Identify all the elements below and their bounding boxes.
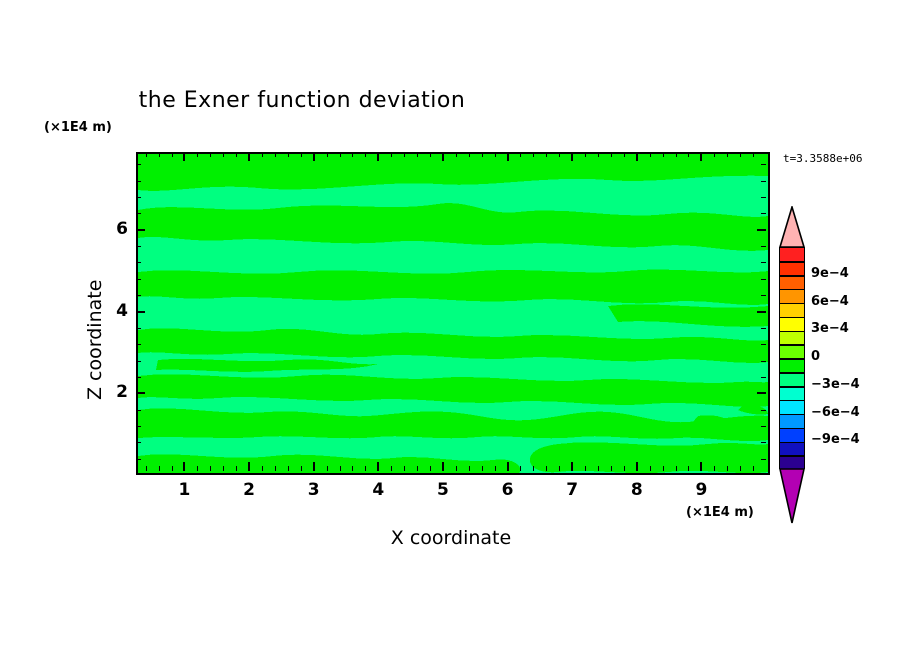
x-tick-minor (663, 466, 664, 471)
colorbar-over-arrow (779, 206, 805, 248)
x-tick-minor-top (753, 152, 754, 157)
x-tick-label: 2 (229, 480, 269, 500)
x-tick-major (507, 462, 509, 471)
x-tick-minor (288, 466, 289, 471)
contour-region (138, 203, 768, 251)
x-axis-unit-label: (×1E4 m) (686, 505, 754, 520)
x-tick-minor (585, 466, 586, 471)
x-tick-label: 4 (358, 480, 398, 500)
x-tick-minor-top (352, 152, 353, 157)
contour-region (138, 154, 768, 191)
x-tick-major-top (183, 152, 185, 161)
x-tick-minor (727, 466, 728, 471)
x-tick-minor-top (391, 152, 392, 157)
contour-region (138, 454, 520, 473)
colorbar-band-divider (780, 400, 804, 402)
x-tick-minor (352, 466, 353, 471)
x-tick-minor (236, 466, 237, 471)
x-tick-minor-top (482, 152, 483, 157)
x-tick-minor-top (288, 152, 289, 157)
x-tick-minor (327, 466, 328, 471)
x-tick-minor (159, 466, 160, 471)
x-tick-minor-top (210, 152, 211, 157)
y-tick-major (136, 392, 145, 394)
y-tick-minor-right (761, 442, 766, 443)
x-tick-minor (559, 466, 560, 471)
y-tick-minor-right (761, 181, 766, 182)
x-tick-minor (546, 466, 547, 471)
x-tick-major (636, 462, 638, 471)
x-tick-minor (262, 466, 263, 471)
y-tick-minor-right (761, 426, 766, 427)
colorbar-band-divider (780, 317, 804, 319)
contour-region (608, 304, 768, 327)
time-annotation: t=3.3588e+06 (783, 152, 862, 165)
y-tick-minor (136, 197, 141, 198)
x-tick-minor-top (559, 152, 560, 157)
x-tick-major-top (248, 152, 250, 161)
contour-region (138, 374, 768, 407)
x-tick-minor-top (404, 152, 405, 157)
x-tick-minor-top (520, 152, 521, 157)
colorbar-bands (779, 247, 805, 469)
x-tick-minor (172, 466, 173, 471)
x-tick-minor-top (676, 152, 677, 157)
contour-field (138, 154, 768, 473)
x-tick-minor-top (430, 152, 431, 157)
y-tick-minor (136, 410, 141, 411)
colorbar[interactable]: 9e−46e−43e−40−3e−4−6e−4−9e−4 (779, 206, 805, 470)
x-tick-minor-top (159, 152, 160, 157)
y-tick-minor-right (761, 410, 766, 411)
colorbar-tick-label: 0 (811, 349, 820, 364)
x-tick-minor (688, 466, 689, 471)
colorbar-under-arrow (779, 468, 805, 524)
colorbar-band-divider (780, 442, 804, 444)
x-tick-minor-top (236, 152, 237, 157)
colorbar-band-divider (780, 261, 804, 263)
x-tick-minor-top (172, 152, 173, 157)
x-tick-minor (340, 466, 341, 471)
y-tick-major (136, 311, 145, 313)
y-tick-major-right (757, 392, 766, 394)
y-tick-minor (136, 361, 141, 362)
colorbar-band-divider (780, 275, 804, 277)
x-tick-major-top (636, 152, 638, 161)
colorbar-band-divider (780, 455, 804, 457)
x-tick-minor (456, 466, 457, 471)
x-tick-minor-top (495, 152, 496, 157)
x-tick-minor-top (727, 152, 728, 157)
x-tick-label: 9 (681, 480, 721, 500)
x-tick-major-top (700, 152, 702, 161)
x-tick-minor-top (197, 152, 198, 157)
colorbar-tick-label: 6e−4 (811, 294, 849, 309)
x-tick-minor-top (327, 152, 328, 157)
contour-region (138, 270, 768, 305)
y-tick-minor (136, 262, 141, 263)
x-tick-minor (740, 466, 741, 471)
y-tick-minor-right (761, 361, 766, 362)
colorbar-band-divider (780, 428, 804, 430)
x-tick-minor (624, 466, 625, 471)
x-tick-minor (714, 466, 715, 471)
x-tick-minor (482, 466, 483, 471)
y-axis-unit-label: (×1E4 m) (44, 120, 112, 135)
x-tick-major (313, 462, 315, 471)
x-tick-minor (676, 466, 677, 471)
x-tick-major-top (313, 152, 315, 161)
colorbar-band-divider (780, 386, 804, 388)
x-axis-title: X coordinate (136, 527, 766, 549)
x-tick-minor (533, 466, 534, 471)
x-tick-minor (598, 466, 599, 471)
x-tick-major-top (507, 152, 509, 161)
y-tick-minor-right (761, 344, 766, 345)
x-tick-minor (275, 466, 276, 471)
x-tick-minor (495, 466, 496, 471)
x-tick-minor (197, 466, 198, 471)
x-tick-label: 1 (164, 480, 204, 500)
colorbar-band-divider (780, 331, 804, 333)
colorbar-band-divider (780, 344, 804, 346)
x-tick-minor-top (417, 152, 418, 157)
y-tick-minor (136, 377, 141, 378)
x-tick-minor (417, 466, 418, 471)
x-tick-minor-top (146, 152, 147, 157)
colorbar-tick-label: 9e−4 (811, 266, 849, 281)
y-tick-label: 6 (88, 219, 128, 239)
x-tick-minor (301, 466, 302, 471)
x-tick-minor-top (340, 152, 341, 157)
x-tick-label: 6 (488, 480, 528, 500)
x-tick-minor (365, 466, 366, 471)
x-tick-minor (520, 466, 521, 471)
colorbar-band-divider (780, 303, 804, 305)
y-tick-minor (136, 426, 141, 427)
x-tick-minor (753, 466, 754, 471)
y-tick-minor (136, 442, 141, 443)
x-tick-major-top (571, 152, 573, 161)
x-tick-minor (210, 466, 211, 471)
y-tick-minor (136, 164, 141, 165)
y-tick-minor-right (761, 197, 766, 198)
x-tick-minor-top (598, 152, 599, 157)
x-tick-minor-top (663, 152, 664, 157)
y-tick-minor-right (761, 377, 766, 378)
x-tick-label: 5 (423, 480, 463, 500)
x-tick-minor-top (365, 152, 366, 157)
colorbar-tick-label: −6e−4 (811, 405, 860, 420)
x-tick-minor-top (650, 152, 651, 157)
x-tick-minor (611, 466, 612, 471)
x-tick-minor-top (275, 152, 276, 157)
x-tick-minor-top (456, 152, 457, 157)
x-tick-minor-top (740, 152, 741, 157)
x-tick-minor (650, 466, 651, 471)
contour-region (138, 408, 768, 441)
x-tick-minor-top (301, 152, 302, 157)
x-tick-minor (223, 466, 224, 471)
colorbar-band-divider (780, 358, 804, 360)
colorbar-tick-label: 3e−4 (811, 321, 849, 336)
x-tick-minor-top (688, 152, 689, 157)
x-tick-minor-top (611, 152, 612, 157)
x-tick-major (183, 462, 185, 471)
x-tick-label: 3 (294, 480, 334, 500)
x-tick-major-top (442, 152, 444, 161)
y-tick-minor (136, 279, 141, 280)
y-tick-major (136, 229, 145, 231)
x-tick-major (248, 462, 250, 471)
y-tick-major-right (757, 311, 766, 313)
y-tick-minor-right (761, 246, 766, 247)
y-tick-minor (136, 344, 141, 345)
contour-region (138, 328, 768, 363)
y-tick-minor (136, 246, 141, 247)
x-tick-minor (146, 466, 147, 471)
x-tick-major (700, 462, 702, 471)
y-tick-minor (136, 181, 141, 182)
x-tick-minor-top (624, 152, 625, 157)
x-tick-major (571, 462, 573, 471)
x-tick-major (377, 462, 379, 471)
x-tick-major-top (377, 152, 379, 161)
x-tick-minor-top (533, 152, 534, 157)
x-tick-minor-top (262, 152, 263, 157)
y-tick-minor-right (761, 262, 766, 263)
x-tick-label: 7 (552, 480, 592, 500)
x-tick-minor-top (546, 152, 547, 157)
y-tick-label: 4 (88, 301, 128, 321)
x-tick-minor-top (469, 152, 470, 157)
x-tick-minor (430, 466, 431, 471)
y-tick-label: 2 (88, 382, 128, 402)
y-tick-minor (136, 213, 141, 214)
contour-plot-area[interactable] (136, 152, 770, 475)
colorbar-band-divider (780, 414, 804, 416)
colorbar-tick-label: −9e−4 (811, 432, 860, 447)
contour-region (156, 359, 378, 372)
y-tick-minor-right (761, 295, 766, 296)
y-tick-minor (136, 459, 141, 460)
y-tick-minor-right (761, 279, 766, 280)
y-tick-minor (136, 328, 141, 329)
y-tick-minor-right (761, 328, 766, 329)
x-tick-minor (469, 466, 470, 471)
y-tick-minor-right (761, 459, 766, 460)
x-tick-minor-top (714, 152, 715, 157)
y-tick-major-right (757, 229, 766, 231)
chart-title: the Exner function deviation (0, 88, 754, 113)
x-tick-minor-top (223, 152, 224, 157)
x-tick-major (442, 462, 444, 471)
colorbar-tick-label: −3e−4 (811, 377, 860, 392)
y-tick-minor-right (761, 213, 766, 214)
x-tick-label: 8 (617, 480, 657, 500)
x-tick-minor-top (585, 152, 586, 157)
y-tick-minor-right (761, 164, 766, 165)
colorbar-band-divider (780, 372, 804, 374)
x-tick-minor (404, 466, 405, 471)
y-tick-minor (136, 295, 141, 296)
x-tick-minor (391, 466, 392, 471)
colorbar-band-divider (780, 289, 804, 291)
